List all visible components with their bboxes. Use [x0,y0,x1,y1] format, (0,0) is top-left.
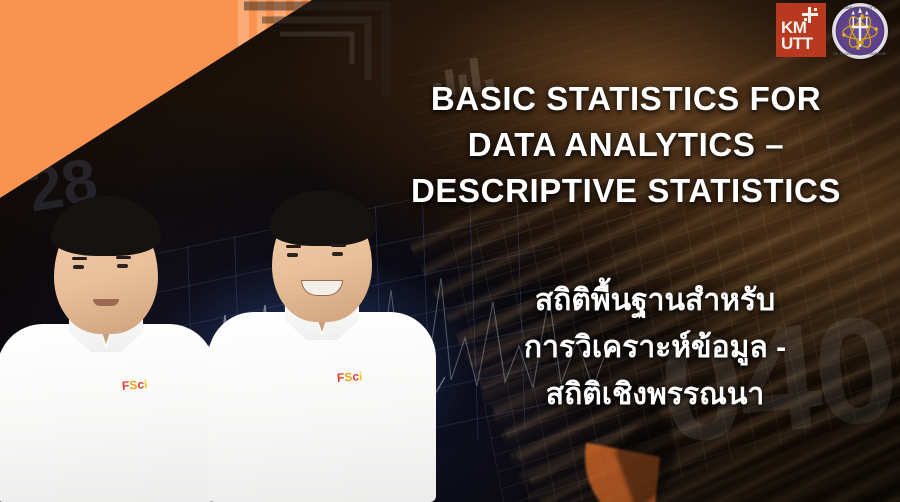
presenter-right-brow-l [286,245,301,248]
presenter-left-brow-r [116,256,131,259]
page-title-english: BASIC STATISTICS FOR DATA ANALYTICS – DE… [352,76,900,214]
presenter-right-shirt [208,312,436,502]
presenter-right-shirt-logo: FSci [337,369,363,385]
presenter-left-brow-l [72,257,87,260]
presenter-right-brow-r [331,244,346,247]
presenter-left-mouth [93,299,119,306]
presenter-right-eye-r [332,252,343,256]
kmutt-logo[interactable]: KM UTT [776,3,826,57]
presenter-photos: FSci FSci [0,182,462,502]
slide-canvas: 040 28 KM UTT KING MONGKUT'S UNIVERSITY … [0,0,900,502]
presenter-left-shirt-logo: FSci [122,377,148,393]
presenter-left-eye-r [117,264,128,268]
presenter-left: FSci [0,202,216,502]
presenter-left-eye-l [73,265,84,269]
page-title-thai: สถิติพื้นฐานสำหรับ การวิเคราะห์ข้อมูล - … [420,277,890,418]
logo-group: KM UTT KING MONGKUT'S UNIVERSITY OF TECH… [776,3,888,59]
kmutt-cross-icon [802,7,818,23]
presenter-left-hair [51,196,161,256]
presenter-right-eye-l [287,253,298,257]
seal-trident-atom-icon [832,3,888,59]
university-seal[interactable]: KING MONGKUT'S UNIVERSITY OF TECHNOLOGY … [832,3,888,59]
presenter-right: FSci [207,184,437,502]
kmutt-logo-line2: UTT [781,36,826,51]
